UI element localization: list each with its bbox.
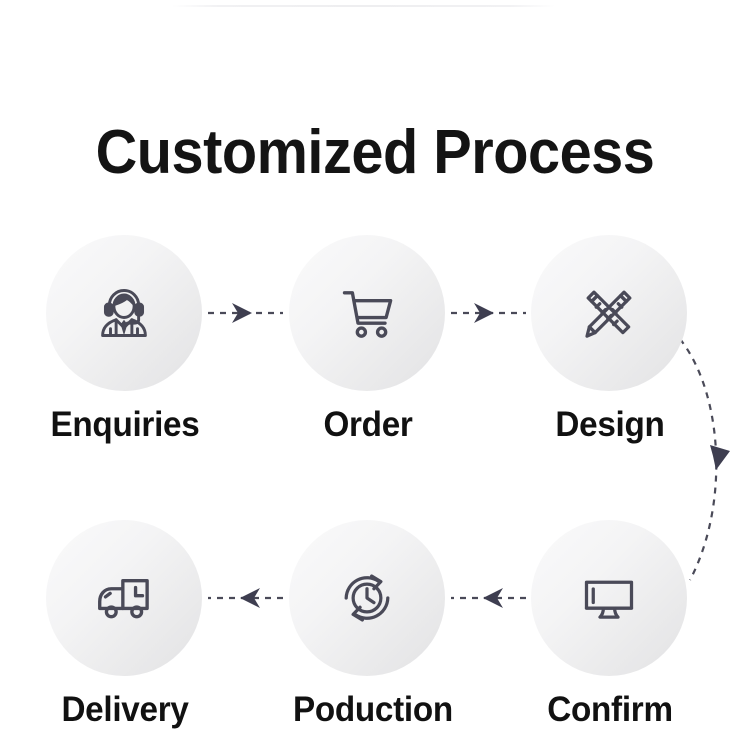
step-confirm-bubble xyxy=(531,520,687,676)
step-confirm-label: Confirm xyxy=(535,690,685,730)
step-delivery-label: Delivery xyxy=(50,690,200,730)
step-confirm[interactable]: Confirm xyxy=(531,520,689,730)
step-poduction[interactable]: Poduction xyxy=(289,520,447,730)
desktop-monitor-icon xyxy=(573,562,645,634)
step-delivery[interactable]: Delivery xyxy=(46,520,204,730)
top-divider-rule xyxy=(172,5,555,7)
step-enquiries[interactable]: Enquiries xyxy=(46,235,204,445)
headset-agent-icon xyxy=(88,277,160,349)
step-order-bubble xyxy=(289,235,445,391)
step-delivery-bubble xyxy=(46,520,202,676)
pencil-ruler-icon xyxy=(572,276,646,350)
step-design-label: Design xyxy=(535,405,685,445)
step-enquiries-label: Enquiries xyxy=(50,405,200,445)
step-poduction-label: Poduction xyxy=(293,690,443,730)
connector-order-to-design xyxy=(451,303,526,323)
step-enquiries-bubble xyxy=(46,235,202,391)
step-poduction-bubble xyxy=(289,520,445,676)
shopping-cart-icon xyxy=(331,277,403,349)
customized-process-infographic: Customized Process xyxy=(0,0,750,750)
page-title: Customized Process xyxy=(26,118,724,188)
step-design[interactable]: Design xyxy=(531,235,689,445)
clock-refresh-icon xyxy=(330,561,404,635)
step-order-label: Order xyxy=(293,405,443,445)
step-order[interactable]: Order xyxy=(289,235,447,445)
connector-enquiries-to-order xyxy=(208,303,283,323)
delivery-truck-icon xyxy=(87,561,161,635)
connector-confirm-to-poduction xyxy=(451,588,526,608)
step-design-bubble xyxy=(531,235,687,391)
connector-poduction-to-delivery xyxy=(208,588,283,608)
